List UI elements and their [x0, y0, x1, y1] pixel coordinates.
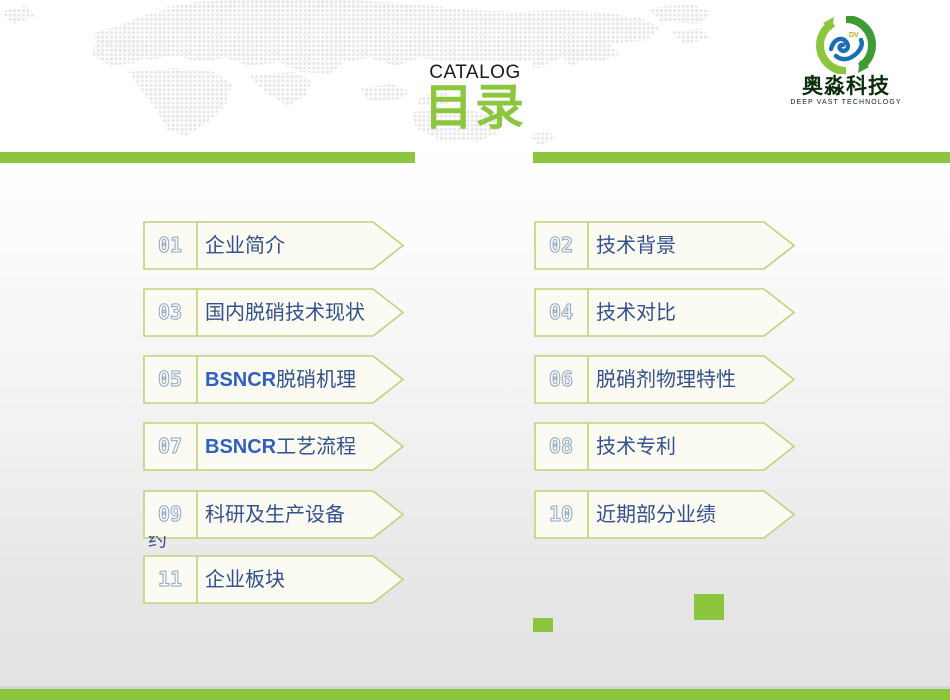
catalog-item-number: 04 — [534, 288, 588, 337]
catalog-item-label: 技术对比 — [596, 288, 676, 337]
catalog-item-05[interactable]: 05 BSNCR脱硝机理 — [143, 355, 405, 404]
catalog-item-text: 国内脱硝技术现状 — [205, 300, 365, 324]
catalog-item-06[interactable]: 06 脱硝剂物理特性 — [534, 355, 796, 404]
catalog-item-text: 企业板块 — [205, 567, 285, 591]
catalog-item-label: 技术背景 — [596, 221, 676, 270]
catalog-list: 01 企业简介 02 技术背景 03 国内脱硝技术现状 — [0, 0, 950, 700]
catalog-item-number: 03 — [143, 288, 197, 337]
catalog-item-text: 脱硝剂物理特性 — [596, 367, 736, 391]
catalog-item-label: 科研及生产设备 — [205, 490, 345, 539]
green-square-small-icon — [533, 618, 553, 632]
catalog-item-07[interactable]: 07 BSNCR工艺流程 — [143, 422, 405, 471]
catalog-item-04[interactable]: 04 技术对比 — [534, 288, 796, 337]
catalog-item-emphasis: BSNCR — [205, 369, 276, 391]
catalog-item-text: 科研及生产设备 — [205, 502, 345, 526]
catalog-item-10[interactable]: 10 近期部分业绩 — [534, 490, 796, 539]
catalog-item-02[interactable]: 02 技术背景 — [534, 221, 796, 270]
catalog-item-09[interactable]: 09 科研及生产设备 — [143, 490, 405, 539]
footer-bar — [0, 689, 950, 700]
catalog-item-text: 脱硝机理 — [276, 367, 356, 391]
catalog-item-label: 脱硝剂物理特性 — [596, 355, 736, 404]
catalog-item-01[interactable]: 01 企业简介 — [143, 221, 405, 270]
catalog-item-text: 近期部分业绩 — [596, 502, 716, 526]
catalog-item-number: 05 — [143, 355, 197, 404]
catalog-item-08[interactable]: 08 技术专利 — [534, 422, 796, 471]
catalog-item-label: BSNCR脱硝机理 — [205, 355, 356, 404]
catalog-item-number: 09 — [143, 490, 197, 539]
catalog-item-number: 10 — [534, 490, 588, 539]
catalog-item-text: 技术对比 — [596, 300, 676, 324]
catalog-item-number: 11 — [143, 555, 197, 604]
catalog-item-label: 技术专利 — [596, 422, 676, 471]
catalog-item-number: 01 — [143, 221, 197, 270]
catalog-item-text: 技术背景 — [596, 233, 676, 257]
catalog-item-number: 02 — [534, 221, 588, 270]
catalog-item-number: 06 — [534, 355, 588, 404]
green-square-large-icon — [694, 594, 724, 620]
catalog-item-03[interactable]: 03 国内脱硝技术现状 — [143, 288, 405, 337]
catalog-item-text: 技术专利 — [596, 434, 676, 458]
clipped-text-artifact: 约 — [148, 536, 188, 549]
catalog-item-text: 企业简介 — [205, 233, 285, 257]
catalog-item-label: 国内脱硝技术现状 — [205, 288, 365, 337]
catalog-item-11[interactable]: 11 企业板块 — [143, 555, 405, 604]
catalog-item-number: 07 — [143, 422, 197, 471]
catalog-item-label: 企业板块 — [205, 555, 285, 604]
catalog-item-emphasis: BSNCR — [205, 436, 276, 458]
catalog-item-label: BSNCR工艺流程 — [205, 422, 356, 471]
catalog-item-label: 企业简介 — [205, 221, 285, 270]
slide-catalog: 目录 CATALOG DV 奥淼科技 DEEP VAST TECHNOLOGY — [0, 0, 950, 700]
catalog-item-label: 近期部分业绩 — [596, 490, 716, 539]
catalog-item-number: 08 — [534, 422, 588, 471]
catalog-item-text: 工艺流程 — [276, 434, 356, 458]
